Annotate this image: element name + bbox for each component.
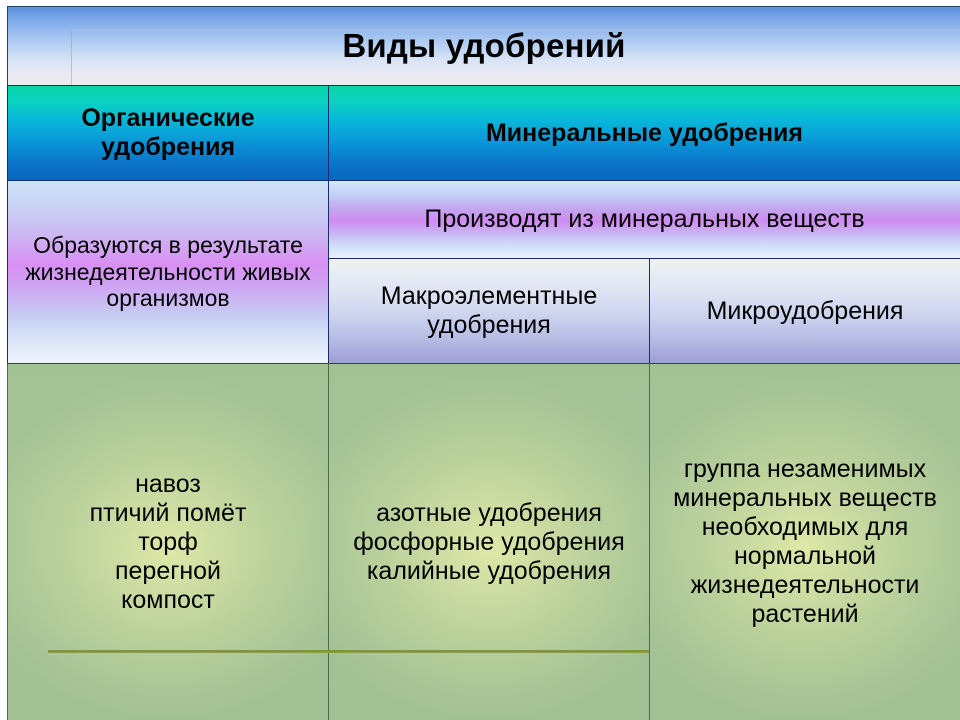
examples-macro-text: азотные удобрения фосфорные удобрения ка…: [329, 499, 649, 586]
title-inner-rule-vertical: [71, 29, 72, 85]
description-cell-organic: Образуются в результате жизнедеятельност…: [7, 180, 328, 363]
examples-organic-text: навоз птичий помёт торф перегной компост: [8, 470, 328, 615]
title-inner-rule-horizontal: [71, 29, 960, 30]
subtype-micro-text: Микроудобрения: [650, 297, 960, 326]
description-mineral-text: Производят из минеральных веществ: [329, 205, 960, 234]
subtype-cell-macro: Макроэлементные удобрения: [328, 258, 649, 363]
header-mineral-text: Минеральные удобрения: [329, 119, 960, 148]
examples-micro-text: группа незаменимых минеральных веществ н…: [650, 455, 960, 629]
slide-title-text: Виды удобрений: [8, 27, 960, 65]
examples-cell-micro: группа незаменимых минеральных веществ н…: [649, 363, 960, 720]
slide-canvas: Виды удобрений Органические удобрения Ми…: [0, 0, 960, 720]
header-cell-mineral: Минеральные удобрения: [328, 85, 960, 180]
description-organic-text: Образуются в результате жизнедеятельност…: [8, 232, 328, 312]
olive-divider-line: [48, 650, 649, 653]
header-organic-text: Органические удобрения: [8, 104, 328, 162]
examples-cell-macro: азотные удобрения фосфорные удобрения ка…: [328, 363, 649, 720]
slide-title: Виды удобрений: [7, 6, 960, 85]
description-cell-mineral: Производят из минеральных веществ: [328, 180, 960, 258]
subtype-cell-micro: Микроудобрения: [649, 258, 960, 363]
header-cell-organic: Органические удобрения: [7, 85, 328, 180]
subtype-macro-text: Макроэлементные удобрения: [329, 282, 649, 340]
examples-cell-organic: навоз птичий помёт торф перегной компост: [7, 363, 328, 720]
